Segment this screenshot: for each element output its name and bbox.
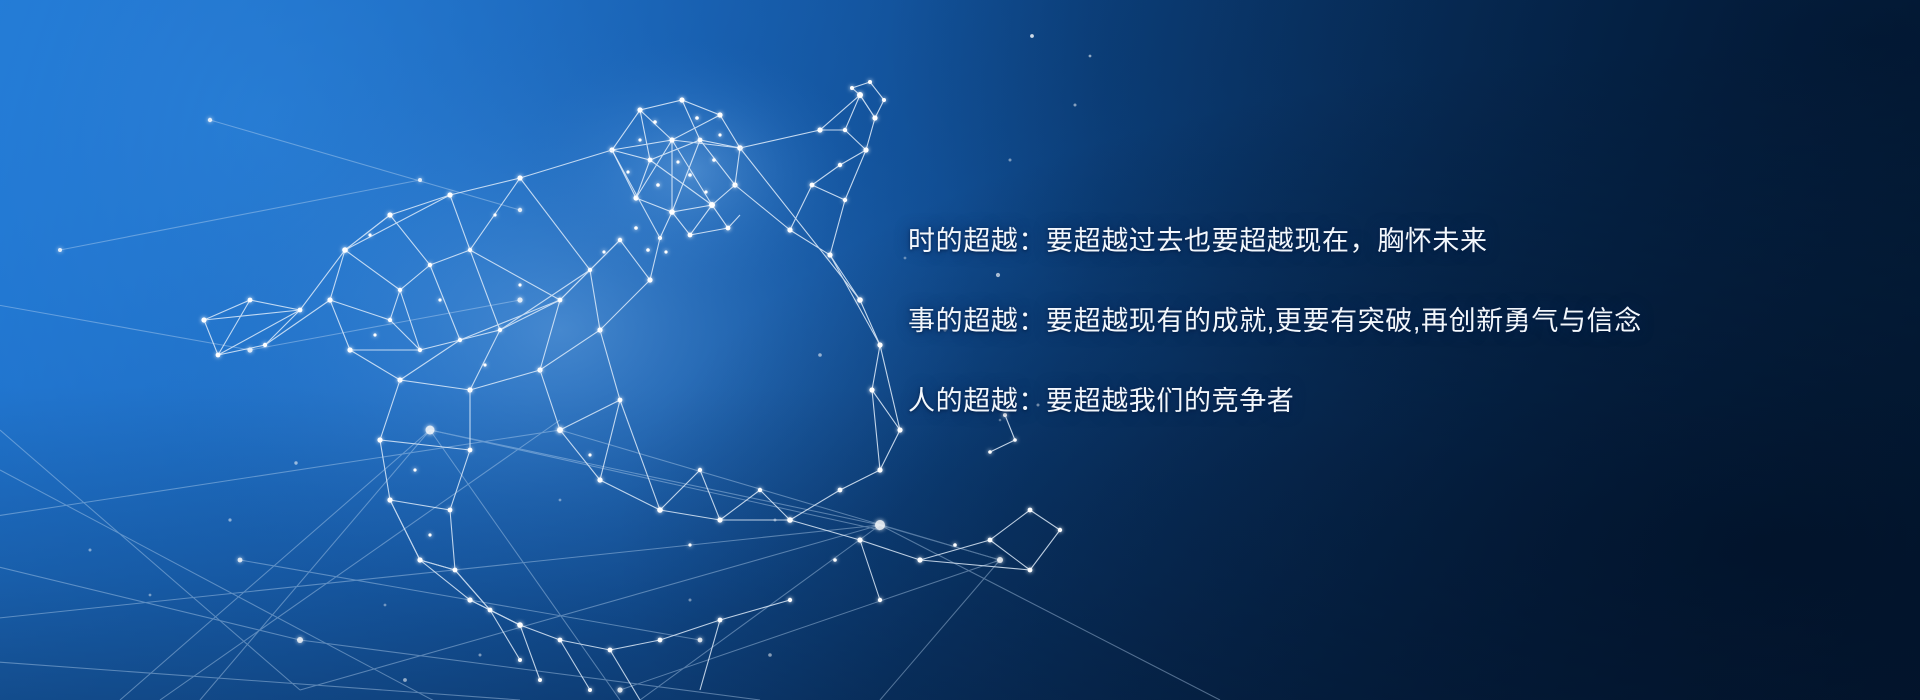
slogan-line-3: 人的超越：要超越我们的竞争者 bbox=[908, 388, 1808, 415]
slogan-line-1: 时的超越：要超越过去也要超越现在，胸怀未来 bbox=[908, 228, 1808, 255]
slogan-line-2: 事的超越：要超越现有的成就,更要有突破,再创新勇气与信念 bbox=[908, 308, 1808, 335]
hero-banner: 时的超越：要超越过去也要超越现在，胸怀未来 事的超越：要超越现有的成就,更要有突… bbox=[0, 0, 1920, 700]
slogan-text-block: 时的超越：要超越过去也要超越现在，胸怀未来 事的超越：要超越现有的成就,更要有突… bbox=[908, 228, 1808, 415]
